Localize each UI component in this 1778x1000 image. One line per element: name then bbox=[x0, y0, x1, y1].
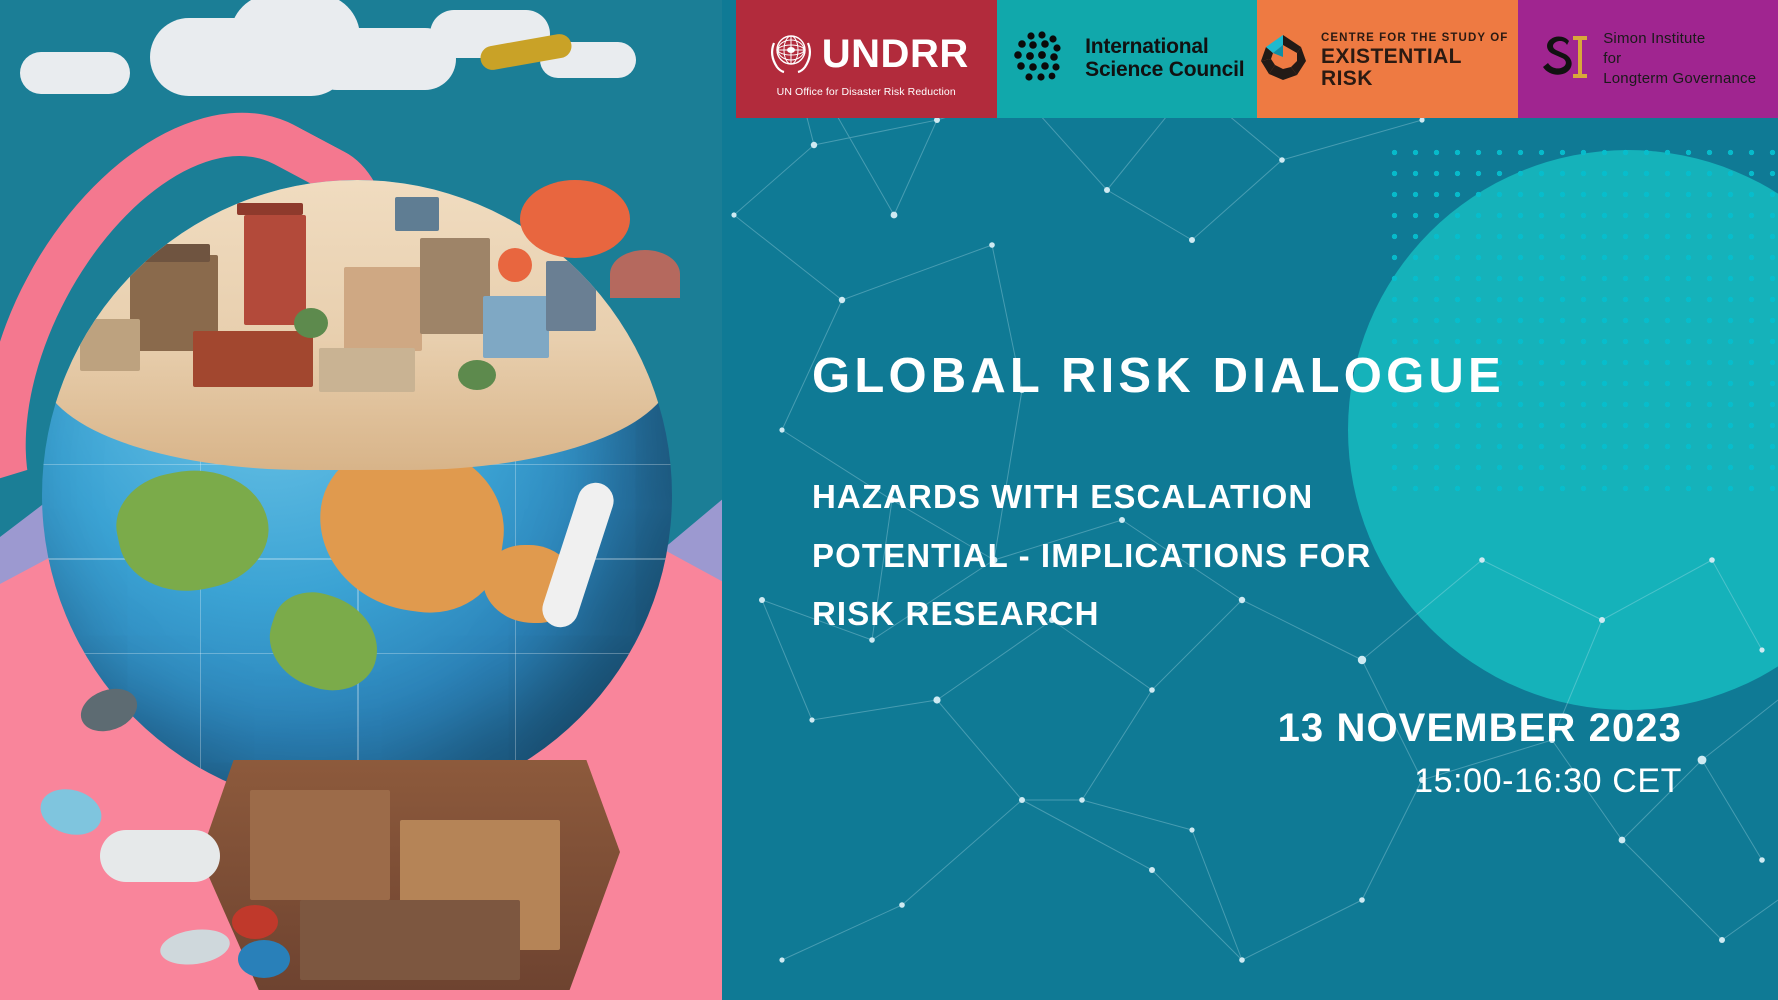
cser-name-line2: EXISTENTIAL RISK bbox=[1321, 45, 1462, 90]
simon-name-line2: for bbox=[1603, 50, 1621, 67]
debris-shape bbox=[498, 248, 532, 282]
simon-name-line1: Simon Institute bbox=[1603, 30, 1705, 47]
debris-shape bbox=[100, 830, 220, 882]
un-emblem-icon bbox=[764, 25, 818, 84]
event-banner: UNDRR UN Office for Disaster Risk Reduct… bbox=[0, 0, 1778, 1000]
isc-name: International Science Council bbox=[1085, 36, 1244, 81]
event-time: 15:00-16:30 CET bbox=[1414, 762, 1682, 801]
debris-shape bbox=[520, 180, 630, 258]
simon-name: Simon Institute for Longterm Governance bbox=[1603, 29, 1756, 90]
logo-cser: CENTRE FOR THE STUDY OF EXISTENTIAL RISK bbox=[1257, 0, 1518, 118]
isc-name-line2: Science Council bbox=[1085, 58, 1244, 81]
under-globe-building bbox=[250, 790, 390, 900]
cser-name-line1: CENTRE FOR THE STUDY OF bbox=[1321, 32, 1508, 44]
cloud-shape bbox=[20, 52, 130, 94]
isc-dot-circle-icon bbox=[1009, 27, 1069, 92]
debris-shape bbox=[238, 940, 290, 978]
landmass-shape bbox=[107, 456, 279, 605]
event-subtitle-line: RISK RESEARCH bbox=[812, 585, 1371, 644]
debris-shape bbox=[610, 250, 680, 298]
event-subtitle-line: HAZARDS WITH ESCALATION bbox=[812, 468, 1371, 527]
isometric-globe-illustration bbox=[0, 0, 722, 1000]
debris-shape bbox=[232, 905, 278, 939]
simon-name-line3: Longterm Governance bbox=[1603, 70, 1756, 87]
si-monogram-icon bbox=[1539, 29, 1591, 90]
partner-logo-strip: UNDRR UN Office for Disaster Risk Reduct… bbox=[736, 0, 1778, 118]
undrr-name: UNDRR bbox=[822, 34, 969, 74]
logo-international-science-council: International Science Council bbox=[997, 0, 1258, 118]
event-date: 13 NOVEMBER 2023 bbox=[1278, 706, 1682, 751]
cser-fragment-icon bbox=[1257, 31, 1309, 88]
event-subtitle: HAZARDS WITH ESCALATION POTENTIAL - IMPL… bbox=[812, 468, 1371, 644]
event-title: GLOBAL RISK DIALOGUE bbox=[812, 348, 1505, 404]
logo-simon-institute: Simon Institute for Longterm Governance bbox=[1518, 0, 1778, 118]
isc-name-line1: International bbox=[1085, 35, 1208, 58]
logo-undrr: UNDRR UN Office for Disaster Risk Reduct… bbox=[736, 0, 997, 118]
event-subtitle-line: POTENTIAL - IMPLICATIONS FOR bbox=[812, 527, 1371, 586]
content-panel: UNDRR UN Office for Disaster Risk Reduct… bbox=[722, 0, 1778, 1000]
landmass-shape bbox=[257, 581, 390, 702]
cser-name: CENTRE FOR THE STUDY OF EXISTENTIAL RISK bbox=[1321, 28, 1518, 90]
under-globe-building bbox=[300, 900, 520, 980]
undrr-tagline: UN Office for Disaster Risk Reduction bbox=[777, 86, 956, 98]
